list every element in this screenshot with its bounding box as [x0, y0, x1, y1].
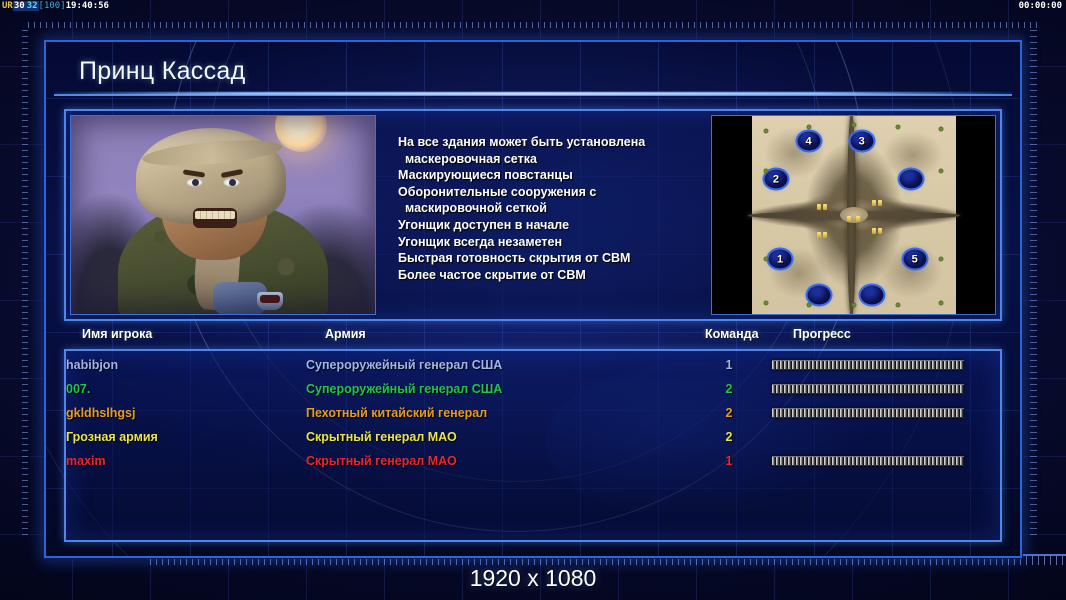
player-team: 1 — [686, 353, 772, 377]
header-progress: Прогресс — [793, 327, 851, 341]
map-tree-marker — [896, 125, 901, 130]
player-table: habibjonСупероружейный генерал США1007.С… — [66, 353, 1000, 473]
table-row[interactable]: 007.Супероружейный генерал США2 — [66, 377, 1000, 401]
progress-bar — [772, 408, 964, 418]
ruler-right — [1030, 30, 1040, 540]
map-preview: 43215 — [711, 115, 996, 315]
map-start-position[interactable]: 3 — [850, 132, 873, 151]
player-army: Супероружейный генерал США — [306, 353, 686, 377]
map-tree-marker — [763, 169, 768, 174]
osd-clock: 19:40:56 — [66, 1, 109, 11]
map-tree-marker — [763, 257, 768, 262]
player-name: habibjon — [66, 353, 306, 377]
osd-status-left: UR3032[100]19:40:56 — [2, 1, 109, 11]
map-start-position[interactable] — [899, 170, 922, 189]
map-resource-marker — [823, 232, 827, 238]
map-tree-marker — [763, 129, 768, 134]
map-resource-marker — [878, 200, 882, 206]
ability-line: Быстрая готовность скрытия от СВМ — [398, 250, 705, 267]
osd-value-1: 30 — [13, 1, 26, 11]
map-start-position[interactable] — [807, 286, 830, 305]
map-start-position[interactable]: 2 — [764, 170, 787, 189]
player-list-panel: Имя игрока Армия Команда Прогресс habibj… — [64, 349, 1002, 542]
map-tree-marker — [806, 303, 811, 308]
player-name: Грозная армия — [66, 425, 306, 449]
map-tree-marker — [763, 301, 768, 306]
dialog-titlebar: Принц Кассад — [54, 48, 1012, 96]
map-resource-marker — [872, 200, 876, 206]
general-ability-list: На все здания может быть установленамаск… — [376, 111, 711, 319]
ability-line: Угонщик всегда незаметен — [398, 234, 705, 251]
osd-value-2: 32 — [26, 1, 39, 11]
player-progress-cell — [772, 425, 1000, 449]
player-army: Скрытный генерал МАО — [306, 425, 686, 449]
table-row[interactable]: gkldhslhgsjПехотный китайский генерал2 — [66, 401, 1000, 425]
player-army: Скрытный генерал МАО — [306, 449, 686, 473]
map-start-position[interactable]: 4 — [797, 132, 820, 151]
player-progress-cell — [772, 401, 1000, 425]
map-resource-marker — [856, 216, 860, 222]
player-progress-cell — [772, 449, 1000, 473]
osd-timer-right: 00:00:00 — [1019, 1, 1062, 11]
player-team: 1 — [686, 449, 772, 473]
portrait-vignette — [71, 116, 375, 314]
general-info-panel: На все здания может быть установленамаск… — [64, 109, 1002, 321]
page-title: Принц Кассад — [54, 57, 245, 86]
desktop-background: UR3032[100]19:40:56 00:00:00 Принц Касса… — [0, 0, 1066, 600]
ruler-top — [28, 18, 1038, 28]
map-image: 43215 — [752, 115, 956, 315]
ability-line: Более частое скрытие от СВМ — [398, 267, 705, 284]
map-start-position[interactable]: 5 — [903, 250, 926, 269]
map-resource-marker — [872, 228, 876, 234]
progress-bar — [772, 456, 964, 466]
osd-tag: UR — [2, 1, 13, 11]
resolution-label: 1920 x 1080 — [0, 565, 1066, 592]
ability-line: Угонщик доступен в начале — [398, 217, 705, 234]
map-resource-marker — [878, 228, 882, 234]
map-resource-marker — [823, 204, 827, 210]
ability-line: Маскирующиеся повстанцы — [398, 167, 705, 184]
ability-line: Оборонительные сооружения с — [398, 184, 705, 201]
header-player-name: Имя игрока — [82, 327, 152, 341]
player-team: 2 — [686, 401, 772, 425]
map-tree-marker — [939, 257, 944, 262]
map-resource-marker — [817, 232, 821, 238]
map-tree-marker — [896, 303, 901, 308]
player-army: Пехотный китайский генерал — [306, 401, 686, 425]
map-tree-marker — [939, 301, 944, 306]
player-name: gkldhslhgsj — [66, 401, 306, 425]
map-tree-marker — [806, 125, 811, 130]
progress-bar — [772, 384, 964, 394]
general-info-dialog: Принц Кассад — [44, 40, 1022, 558]
player-list-headers: Имя игрока Армия Команда Прогресс — [66, 327, 1000, 349]
player-team: 2 — [686, 425, 772, 449]
table-row[interactable]: Грозная армияСкрытный генерал МАО2 — [66, 425, 1000, 449]
map-start-position[interactable]: 1 — [769, 250, 792, 269]
player-name: 007. — [66, 377, 306, 401]
ability-line: На все здания может быть установлена — [398, 134, 705, 151]
map-tree-marker — [851, 303, 856, 308]
map-tree-marker — [851, 123, 856, 128]
map-tree-marker — [939, 127, 944, 132]
header-team: Команда — [705, 327, 759, 341]
player-progress-cell — [772, 377, 1000, 401]
ability-line: маскеровочная сетка — [398, 151, 705, 168]
table-row[interactable]: maximСкрытный генерал МАО1 — [66, 449, 1000, 473]
map-resource-marker — [817, 204, 821, 210]
general-portrait — [70, 115, 376, 315]
map-tree-marker — [939, 169, 944, 174]
player-team: 2 — [686, 377, 772, 401]
map-center-island — [840, 207, 868, 223]
player-progress-cell — [772, 353, 1000, 377]
titlebar-underline — [54, 92, 1012, 95]
progress-bar — [772, 360, 964, 370]
osd-value-3: [100] — [39, 1, 66, 11]
map-resource-marker — [847, 216, 851, 222]
table-row[interactable]: habibjonСупероружейный генерал США1 — [66, 353, 1000, 377]
player-army: Супероружейный генерал США — [306, 377, 686, 401]
ruler-left — [18, 30, 28, 540]
player-name: maxim — [66, 449, 306, 473]
map-start-position[interactable] — [860, 286, 883, 305]
header-army: Армия — [325, 327, 366, 341]
ability-line: маскировочной сеткой — [398, 200, 705, 217]
